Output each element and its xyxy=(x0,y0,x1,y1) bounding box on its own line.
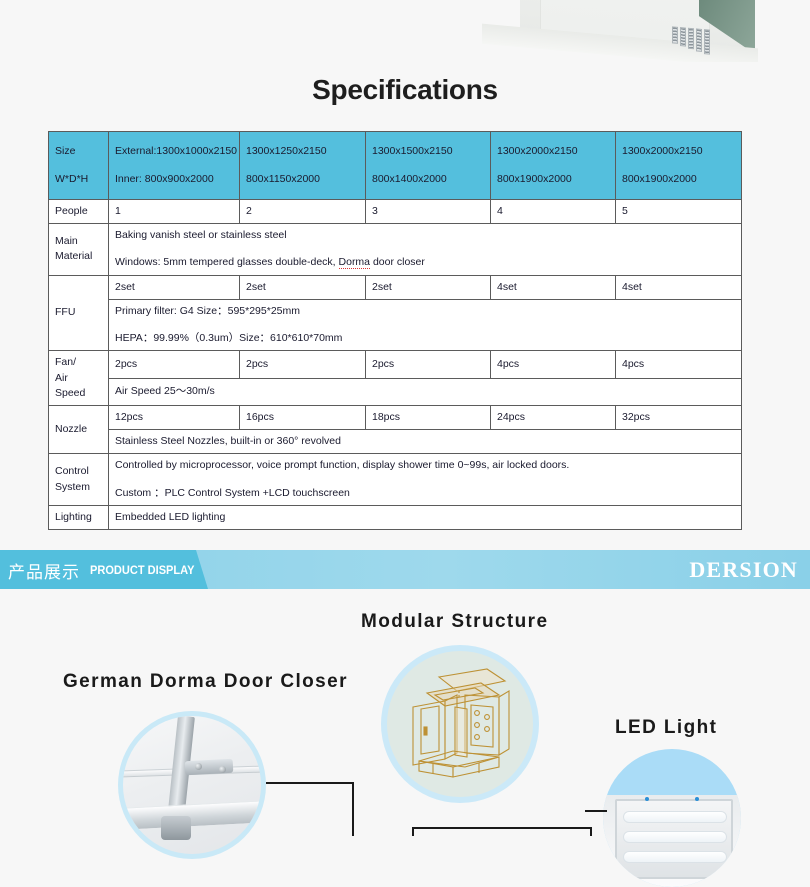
header-size-col-1: External:1300x1000x2150 Inner: 800x900x2… xyxy=(109,132,240,200)
people-col-4: 4 xyxy=(491,200,616,224)
led-tube-icon xyxy=(623,811,727,823)
feature-title-modular-structure: Modular Structure xyxy=(361,611,548,633)
people-col-5: 5 xyxy=(616,200,742,224)
people-col-1: 1 xyxy=(109,200,240,224)
dorma-keyword: Dorma xyxy=(339,256,371,269)
specifications-table-wrapper: Size W*D*H External:1300x1000x2150 Inner… xyxy=(48,131,741,530)
row-label-fan-air-speed: Fan/ Air Speed xyxy=(49,351,109,406)
nozzle-col-1: 12pcs xyxy=(109,405,240,429)
header-size-col-2: 1300x1250x2150 800x1150x2000 xyxy=(240,132,366,200)
callout-connector-dorma xyxy=(266,782,354,836)
led-panel-photo xyxy=(603,749,741,887)
nozzle-col-5: 32pcs xyxy=(616,405,742,429)
ffu-col-1: 2set xyxy=(109,275,240,299)
ffu-note: Primary filter: G4 Size：595*295*25mm HEP… xyxy=(109,299,742,350)
table-row-fan-values: Fan/ Air Speed 2pcs 2pcs 2pcs 4pcs 4pcs xyxy=(49,351,742,378)
table-row-ffu-note: Primary filter: G4 Size：595*295*25mm HEP… xyxy=(49,299,742,350)
nozzle-col-4: 24pcs xyxy=(491,405,616,429)
screw-icon xyxy=(219,766,226,773)
feature-title-led-light: LED Light xyxy=(615,717,717,739)
door-closer-photo xyxy=(118,711,266,859)
header-size-col-4: 1300x2000x2150 800x1900x2000 xyxy=(491,132,616,200)
table-row-ffu-values: FFU 2set 2set 2set 4set 4set xyxy=(49,275,742,299)
specifications-table: Size W*D*H External:1300x1000x2150 Inner… xyxy=(48,131,742,530)
table-row-nozzle-values: Nozzle 12pcs 16pcs 18pcs 24pcs 32pcs xyxy=(49,405,742,429)
feature-title-dorma-door-closer: German Dorma Door Closer xyxy=(63,671,348,693)
led-tube-icon xyxy=(623,831,727,843)
led-indicator-dot xyxy=(695,797,699,801)
banner-title-cn: 产品展示 xyxy=(8,558,80,583)
people-col-3: 3 xyxy=(366,200,491,224)
callout-connector-modular xyxy=(412,827,592,836)
closer-mount-plate xyxy=(185,759,234,775)
exploded-wireframe-icon xyxy=(381,645,539,803)
header-label-size: Size W*D*H xyxy=(49,132,109,200)
ffu-col-3: 2set xyxy=(366,275,491,299)
closer-cylinder xyxy=(161,816,191,840)
page-title: Specifications xyxy=(0,74,810,106)
ffu-col-4: 4set xyxy=(491,275,616,299)
main-material-note-post: door closer xyxy=(370,256,425,268)
fan-col-1: 2pcs xyxy=(109,351,240,378)
nozzle-col-3: 18pcs xyxy=(366,405,491,429)
row-label-ffu: FFU xyxy=(49,275,109,351)
screw-icon xyxy=(195,763,202,770)
exploded-wireframe-svg xyxy=(387,651,533,797)
main-material-note: Baking vanish steel or stainless steel W… xyxy=(109,224,742,275)
table-row-nozzle-note: Stainless Steel Nozzles, built-in or 360… xyxy=(49,430,742,454)
led-fixture-frame xyxy=(615,799,733,879)
row-label-people: People xyxy=(49,200,109,224)
people-col-2: 2 xyxy=(240,200,366,224)
door-closer-body-rail xyxy=(123,800,261,830)
air-speed-note: Air Speed 25〜30m/s xyxy=(109,378,742,405)
lighting-note: Embedded LED lighting xyxy=(109,505,742,529)
table-row-air-speed-note: Air Speed 25〜30m/s xyxy=(49,378,742,405)
row-label-control-system: Control System xyxy=(49,454,109,505)
table-header-row: Size W*D*H External:1300x1000x2150 Inner… xyxy=(49,132,742,200)
ffu-col-5: 4set xyxy=(616,275,742,299)
table-row-main-material: Main Material Baking vanish steel or sta… xyxy=(49,224,742,275)
fan-col-3: 2pcs xyxy=(366,351,491,378)
brand-logo: DERSION xyxy=(689,557,798,583)
nozzle-note: Stainless Steel Nozzles, built-in or 360… xyxy=(109,430,742,454)
table-row-lighting: Lighting Embedded LED lighting xyxy=(49,505,742,529)
header-size-col-3: 1300x1500x2150 800x1400x2000 xyxy=(366,132,491,200)
led-indicator-dot xyxy=(645,797,649,801)
led-tube-icon xyxy=(623,851,727,863)
control-system-note: Controlled by microprocessor, voice prom… xyxy=(109,454,742,505)
header-size-col-5: 1300x2000x2150 800x1900x2000 xyxy=(616,132,742,200)
nozzle-col-2: 16pcs xyxy=(240,405,366,429)
product-photo-fragment xyxy=(0,0,810,62)
banner-title-en: PRODUCT DISPLAY xyxy=(90,563,194,577)
row-label-lighting: Lighting xyxy=(49,505,109,529)
fan-col-5: 4pcs xyxy=(616,351,742,378)
vent-grille-icon xyxy=(672,26,710,54)
fan-col-2: 2pcs xyxy=(240,351,366,378)
product-display-banner: 产品展示 PRODUCT DISPLAY DERSION xyxy=(0,550,810,589)
table-row-people: People 1 2 3 4 5 xyxy=(49,200,742,224)
fan-col-4: 4pcs xyxy=(491,351,616,378)
main-material-note-pre: Windows: 5mm tempered glasses double-dec… xyxy=(115,256,339,268)
row-label-main-material: Main Material xyxy=(49,224,109,275)
callout-connector-led xyxy=(585,810,607,812)
row-label-nozzle: Nozzle xyxy=(49,405,109,453)
table-row-control-system: Control System Controlled by microproces… xyxy=(49,454,742,505)
ffu-col-2: 2set xyxy=(240,275,366,299)
